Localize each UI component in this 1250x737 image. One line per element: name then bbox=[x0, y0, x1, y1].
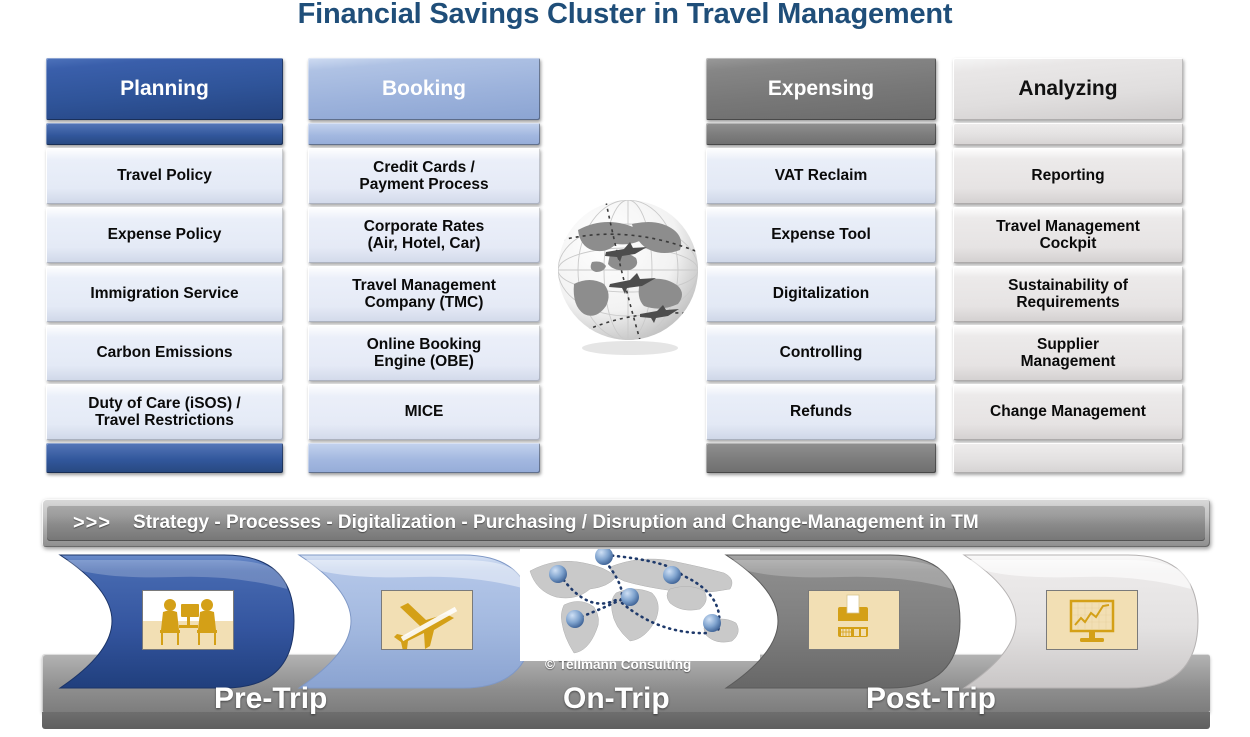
cluster-item[interactable]: Credit Cards /Payment Process bbox=[308, 148, 540, 204]
banner-inner: >>> Strategy - Processes - Digitalizatio… bbox=[47, 505, 1205, 541]
process-chevron-post-trip[interactable] bbox=[960, 549, 1208, 694]
process-chevron-booking[interactable] bbox=[295, 549, 543, 694]
cluster-item[interactable]: SupplierManagement bbox=[953, 325, 1183, 381]
cluster-item[interactable]: Travel ManagementCompany (TMC) bbox=[308, 266, 540, 322]
cluster-item[interactable]: Digitalization bbox=[706, 266, 936, 322]
cluster-item-label: Digitalization bbox=[773, 285, 869, 302]
cluster-column-planning: Planning Travel Policy Expense Policy Im… bbox=[46, 58, 283, 473]
cluster-column-expensing: Expensing VAT Reclaim Expense Tool Digit… bbox=[706, 58, 936, 473]
chart-monitor-icon bbox=[1046, 590, 1138, 650]
cluster-item-label: Controlling bbox=[780, 344, 863, 361]
cluster-item-label: Travel Policy bbox=[117, 167, 212, 184]
receipt-printer-icon bbox=[808, 590, 900, 650]
cluster-item[interactable]: Corporate Rates(Air, Hotel, Car) bbox=[308, 207, 540, 263]
column-header-booking[interactable]: Booking bbox=[308, 58, 540, 120]
chevron-arrows-icon: >>> bbox=[73, 512, 111, 535]
cluster-item[interactable]: Reporting bbox=[953, 148, 1183, 204]
cluster-item-label: SupplierManagement bbox=[1021, 336, 1116, 371]
cluster-item[interactable]: VAT Reclaim bbox=[706, 148, 936, 204]
cluster-item-label: Credit Cards /Payment Process bbox=[359, 159, 488, 194]
copyright-notice: © Tellmann Consulting bbox=[545, 657, 691, 672]
cluster-item-label: Sustainability ofRequirements bbox=[1008, 277, 1128, 312]
cluster-item[interactable]: Duty of Care (iSOS) /Travel Restrictions bbox=[46, 384, 283, 440]
globe-icon bbox=[548, 188, 712, 364]
cluster-item-label: Corporate Rates(Air, Hotel, Car) bbox=[364, 218, 485, 253]
cluster-item[interactable]: Change Management bbox=[953, 384, 1183, 440]
column-cap-top-expensing bbox=[706, 123, 936, 145]
cluster-item-label: Refunds bbox=[790, 403, 852, 420]
phase-label-pre-trip: Pre-Trip bbox=[214, 682, 327, 716]
airplane-icon bbox=[381, 590, 473, 650]
cluster-item-label: Carbon Emissions bbox=[96, 344, 232, 361]
cluster-item-label: Travel ManagementCompany (TMC) bbox=[352, 277, 496, 312]
column-header-analyzing[interactable]: Analyzing bbox=[953, 58, 1183, 120]
cluster-item[interactable]: Carbon Emissions bbox=[46, 325, 283, 381]
cluster-item-label: Change Management bbox=[990, 403, 1146, 420]
cluster-item-label: Immigration Service bbox=[90, 285, 238, 302]
banner-label: Strategy - Processes - Digitalization - … bbox=[133, 512, 979, 534]
cluster-item[interactable]: Online BookingEngine (OBE) bbox=[308, 325, 540, 381]
meeting-icon bbox=[142, 590, 234, 650]
column-cap-bottom-planning bbox=[46, 443, 283, 473]
cluster-item[interactable]: Expense Tool bbox=[706, 207, 936, 263]
phase-label-on-trip: On-Trip bbox=[563, 682, 670, 716]
cluster-item-label: Expense Policy bbox=[108, 226, 222, 243]
cluster-item-label: Reporting bbox=[1031, 167, 1104, 184]
cluster-item[interactable]: Travel ManagementCockpit bbox=[953, 207, 1183, 263]
column-cap-top-analyzing bbox=[953, 123, 1183, 145]
cluster-item[interactable]: Immigration Service bbox=[46, 266, 283, 322]
column-cap-top-booking bbox=[308, 123, 540, 145]
cluster-item-label: MICE bbox=[405, 403, 444, 420]
column-cap-bottom-analyzing bbox=[953, 443, 1183, 473]
cluster-item-label: VAT Reclaim bbox=[775, 167, 867, 184]
strategy-banner[interactable]: >>> Strategy - Processes - Digitalizatio… bbox=[42, 499, 1210, 547]
process-chevron-pre-trip[interactable] bbox=[56, 549, 304, 694]
column-cap-bottom-booking bbox=[308, 443, 540, 473]
column-header-planning[interactable]: Planning bbox=[46, 58, 283, 120]
cluster-item-label: Expense Tool bbox=[771, 226, 871, 243]
phase-label-post-trip: Post-Trip bbox=[866, 682, 996, 716]
cluster-item-label: Duty of Care (iSOS) /Travel Restrictions bbox=[88, 395, 240, 430]
cluster-column-booking: Booking Credit Cards /Payment Process Co… bbox=[308, 58, 540, 473]
column-cap-top-planning bbox=[46, 123, 283, 145]
cluster-item-label: Travel ManagementCockpit bbox=[996, 218, 1140, 253]
cluster-item-label: Online BookingEngine (OBE) bbox=[367, 336, 482, 371]
cluster-item[interactable]: Expense Policy bbox=[46, 207, 283, 263]
cluster-item[interactable]: Refunds bbox=[706, 384, 936, 440]
cluster-column-analyzing: Analyzing Reporting Travel ManagementCoc… bbox=[953, 58, 1183, 473]
cluster-item[interactable]: Travel Policy bbox=[46, 148, 283, 204]
cluster-item[interactable]: MICE bbox=[308, 384, 540, 440]
cluster-item[interactable]: Controlling bbox=[706, 325, 936, 381]
column-cap-bottom-expensing bbox=[706, 443, 936, 473]
cluster-item[interactable]: Sustainability ofRequirements bbox=[953, 266, 1183, 322]
column-header-expensing[interactable]: Expensing bbox=[706, 58, 936, 120]
page-title: Financial Savings Cluster in Travel Mana… bbox=[0, 0, 1250, 31]
process-chevron-on-trip[interactable] bbox=[722, 549, 970, 694]
